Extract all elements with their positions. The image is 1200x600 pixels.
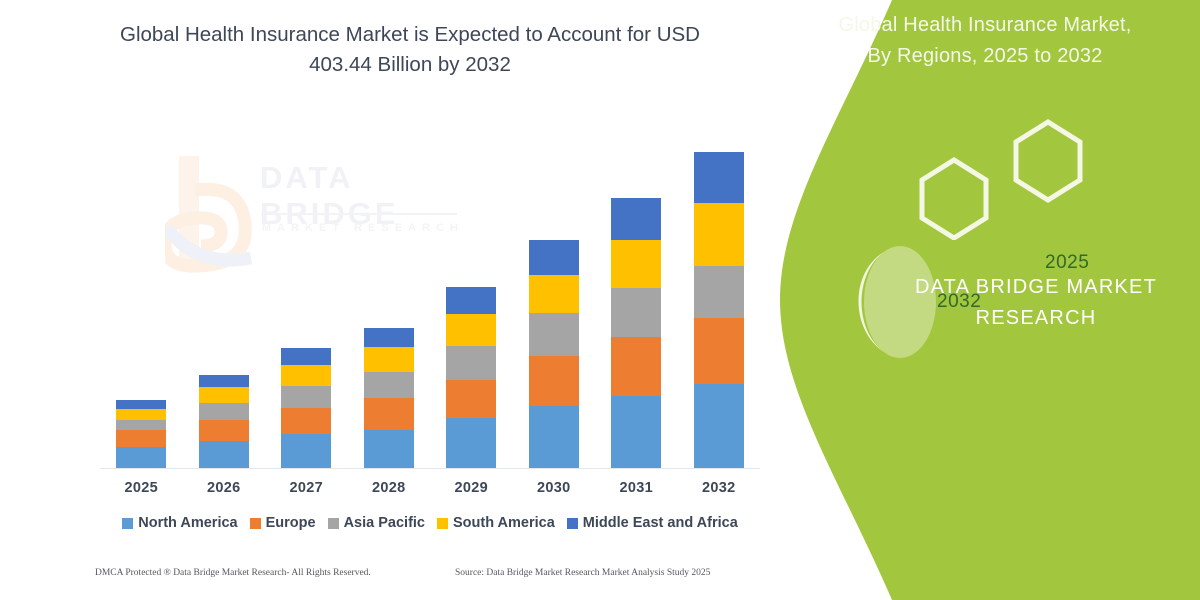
bar-2032 — [694, 152, 744, 468]
segment-europe-2025 — [116, 430, 166, 447]
legend-item-asia-pacific[interactable]: Asia Pacific — [328, 515, 425, 531]
segment-middle-east-and-africa-2028 — [364, 328, 414, 347]
bar-2028 — [364, 328, 414, 468]
chart-panel: Global Health Insurance Market is Expect… — [0, 0, 800, 600]
hexagon-2032-icon — [922, 160, 986, 238]
bar-2029 — [446, 287, 496, 468]
chart-legend: North AmericaEuropeAsia PacificSouth Ame… — [100, 512, 760, 534]
bar-2027 — [281, 348, 331, 468]
panel-brand-text: DATA BRIDGE MARKET RESEARCH — [880, 272, 1192, 334]
x-tick-2032: 2032 — [674, 480, 764, 496]
green-side-panel: Global Health Insurance Market, By Regio… — [780, 0, 1200, 600]
segment-north-america-2030 — [529, 406, 579, 468]
segment-asia-pacific-2030 — [529, 313, 579, 356]
legend-swatch-icon — [250, 518, 261, 529]
segment-asia-pacific-2029 — [446, 346, 496, 380]
segment-europe-2027 — [281, 408, 331, 434]
legend-swatch-icon — [437, 518, 448, 529]
segment-north-america-2026 — [199, 441, 249, 468]
segment-europe-2026 — [199, 420, 249, 441]
segment-middle-east-and-africa-2030 — [529, 240, 579, 275]
segment-south-america-2030 — [529, 275, 579, 313]
legend-item-middle-east-and-africa[interactable]: Middle East and Africa — [567, 515, 738, 531]
segment-south-america-2032 — [694, 203, 744, 266]
segment-south-america-2029 — [446, 314, 496, 346]
bar-2030 — [529, 240, 579, 468]
x-tick-2027: 2027 — [261, 480, 351, 496]
segment-middle-east-and-africa-2032 — [694, 152, 744, 203]
legend-item-north-america[interactable]: North America — [122, 515, 237, 531]
footer-source: Source: Data Bridge Market Research Mark… — [455, 568, 710, 578]
segment-europe-2030 — [529, 356, 579, 406]
legend-item-south-america[interactable]: South America — [437, 515, 555, 531]
x-tick-2025: 2025 — [96, 480, 186, 496]
x-tick-2031: 2031 — [591, 480, 681, 496]
legend-label: Europe — [266, 515, 316, 531]
segment-north-america-2029 — [446, 418, 496, 468]
x-tick-2030: 2030 — [509, 480, 599, 496]
segment-asia-pacific-2027 — [281, 386, 331, 408]
segment-middle-east-and-africa-2029 — [446, 287, 496, 314]
segment-north-america-2031 — [611, 396, 661, 468]
segment-asia-pacific-2028 — [364, 372, 414, 398]
bar-2026 — [199, 375, 249, 468]
segment-asia-pacific-2026 — [199, 403, 249, 420]
page-title: Global Health Insurance Market is Expect… — [60, 20, 760, 80]
segment-asia-pacific-2025 — [116, 420, 166, 430]
legend-label: Middle East and Africa — [583, 515, 738, 531]
hexagon-2025-icon — [1016, 122, 1080, 200]
segment-north-america-2032 — [694, 384, 744, 468]
footer-copyright: DMCA Protected ® Data Bridge Market Rese… — [95, 568, 371, 578]
hexagon-group: 2025 2032 — [780, 110, 1200, 240]
hexagon-shapes-icon — [780, 110, 1200, 240]
legend-label: Asia Pacific — [344, 515, 425, 531]
segment-south-america-2031 — [611, 240, 661, 288]
segment-europe-2032 — [694, 318, 744, 384]
x-axis-line — [100, 468, 760, 469]
segment-europe-2028 — [364, 398, 414, 430]
segment-north-america-2027 — [281, 434, 331, 468]
x-tick-2026: 2026 — [179, 480, 269, 496]
legend-label: South America — [453, 515, 555, 531]
hexagon-2025-label: 2025 — [1045, 252, 1089, 274]
segment-middle-east-and-africa-2031 — [611, 198, 661, 240]
legend-swatch-icon — [328, 518, 339, 529]
segment-asia-pacific-2032 — [694, 266, 744, 318]
segment-europe-2029 — [446, 380, 496, 418]
bar-2031 — [611, 198, 661, 468]
segment-south-america-2026 — [199, 387, 249, 403]
segment-north-america-2025 — [116, 447, 166, 468]
x-tick-2029: 2029 — [426, 480, 516, 496]
x-tick-2028: 2028 — [344, 480, 434, 496]
legend-label: North America — [138, 515, 237, 531]
legend-item-europe[interactable]: Europe — [250, 515, 316, 531]
panel-title: Global Health Insurance Market, By Regio… — [780, 10, 1190, 72]
stacked-bar-plot: 20252026202720282029203020312032 — [100, 120, 760, 470]
bar-2025 — [116, 400, 166, 468]
legend-swatch-icon — [122, 518, 133, 529]
segment-asia-pacific-2031 — [611, 288, 661, 337]
legend-swatch-icon — [567, 518, 578, 529]
segment-north-america-2028 — [364, 430, 414, 468]
segment-south-america-2025 — [116, 409, 166, 420]
segment-middle-east-and-africa-2027 — [281, 348, 331, 365]
segment-europe-2031 — [611, 337, 661, 396]
segment-south-america-2028 — [364, 347, 414, 372]
segment-middle-east-and-africa-2026 — [199, 375, 249, 387]
segment-middle-east-and-africa-2025 — [116, 400, 166, 409]
infographic-canvas: Global Health Insurance Market is Expect… — [0, 0, 1200, 600]
segment-south-america-2027 — [281, 365, 331, 386]
